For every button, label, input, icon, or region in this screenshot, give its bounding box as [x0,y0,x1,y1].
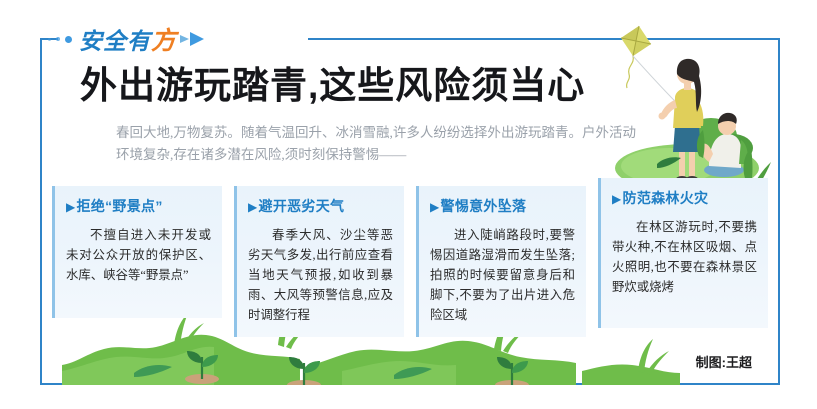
tip-card-1: ▶拒绝“野景点” 不擅自进入未开发或未对公众开放的保护区、水库、峡谷等“野景点” [52,186,222,318]
tip-card-1-body: 不擅自进入未开发或未对公众开放的保护区、水库、峡谷等“野景点” [66,225,211,285]
tip-card-4: ▶防范森林火灾 在林区游玩时,不要携带火种,不在林区吸烟、点火照明,也不要在森林… [598,178,768,328]
tip-card-3: ▶警惕意外坠落 进入陡峭路段时,要警惕因道路湿滑而发生坠落;拍照的时候要留意身后… [416,186,586,337]
brand-dot-1 [48,38,51,41]
brand-title-accent: 方 [151,28,177,55]
tip-card-1-heading-text: 拒绝“野景点” [77,198,163,214]
triangle-marker-icon: ▶ [430,200,440,214]
tip-card-2-heading-text: 避开恶劣天气 [259,198,345,214]
tip-card-4-body: 在林区游玩时,不要携带火种,不在林区吸烟、点火照明,也不要在森林景区野炊或烧烤 [612,217,757,297]
tip-card-2: ▶避开恶劣天气 春季大风、沙尘等恶劣天气多发,出行前应查看当地天气预报,如收到暴… [234,186,404,337]
credit-line: 制图:王超 [696,352,752,371]
brand-arrows [179,32,204,46]
tip-card-1-heading: ▶拒绝“野景点” [66,196,211,216]
tip-card-3-heading: ▶警惕意外坠落 [430,196,575,216]
brand-bar: 安全有方 [44,22,344,56]
tips-card-row: ▶拒绝“野景点” 不擅自进入未开发或未对公众开放的保护区、水库、峡谷等“野景点”… [52,186,768,336]
arrow-small-icon [180,35,189,43]
triangle-marker-icon: ▶ [612,192,622,206]
arrow-large-icon [190,32,204,46]
brand-dot-3 [65,36,72,43]
infographic-poster: 安全有方 外出游玩踏青,这些风险须当心 春回大地,万物复苏。随着气温回升、冰消雪… [0,0,817,409]
page-title: 外出游玩踏青,这些风险须当心 [80,62,650,110]
tip-card-4-heading-text: 防范森林火灾 [623,190,709,206]
brand-dots [48,36,72,43]
brand-title-main: 安全有 [79,29,151,54]
tip-card-3-heading-text: 警惕意外坠落 [441,198,527,214]
tip-card-2-body: 春季大风、沙尘等恶劣天气多发,出行前应查看当地天气预报,如收到暴雨、大风等预警信… [248,225,393,325]
triangle-marker-icon: ▶ [248,200,258,214]
triangle-marker-icon: ▶ [66,200,76,214]
lead-paragraph: 春回大地,万物复苏。随着气温回升、冰消雪融,许多人纷纷选择外出游玩踏青。户外活动… [116,122,636,166]
tip-card-4-heading: ▶防范森林火灾 [612,188,757,208]
tip-card-3-body: 进入陡峭路段时,要警惕因道路湿滑而发生坠落;拍照的时候要留意身后和脚下,不要为了… [430,225,575,325]
brand-title: 安全有方 [79,21,177,57]
brand-dot-2 [56,37,60,41]
tip-card-2-heading: ▶避开恶劣天气 [248,196,393,216]
